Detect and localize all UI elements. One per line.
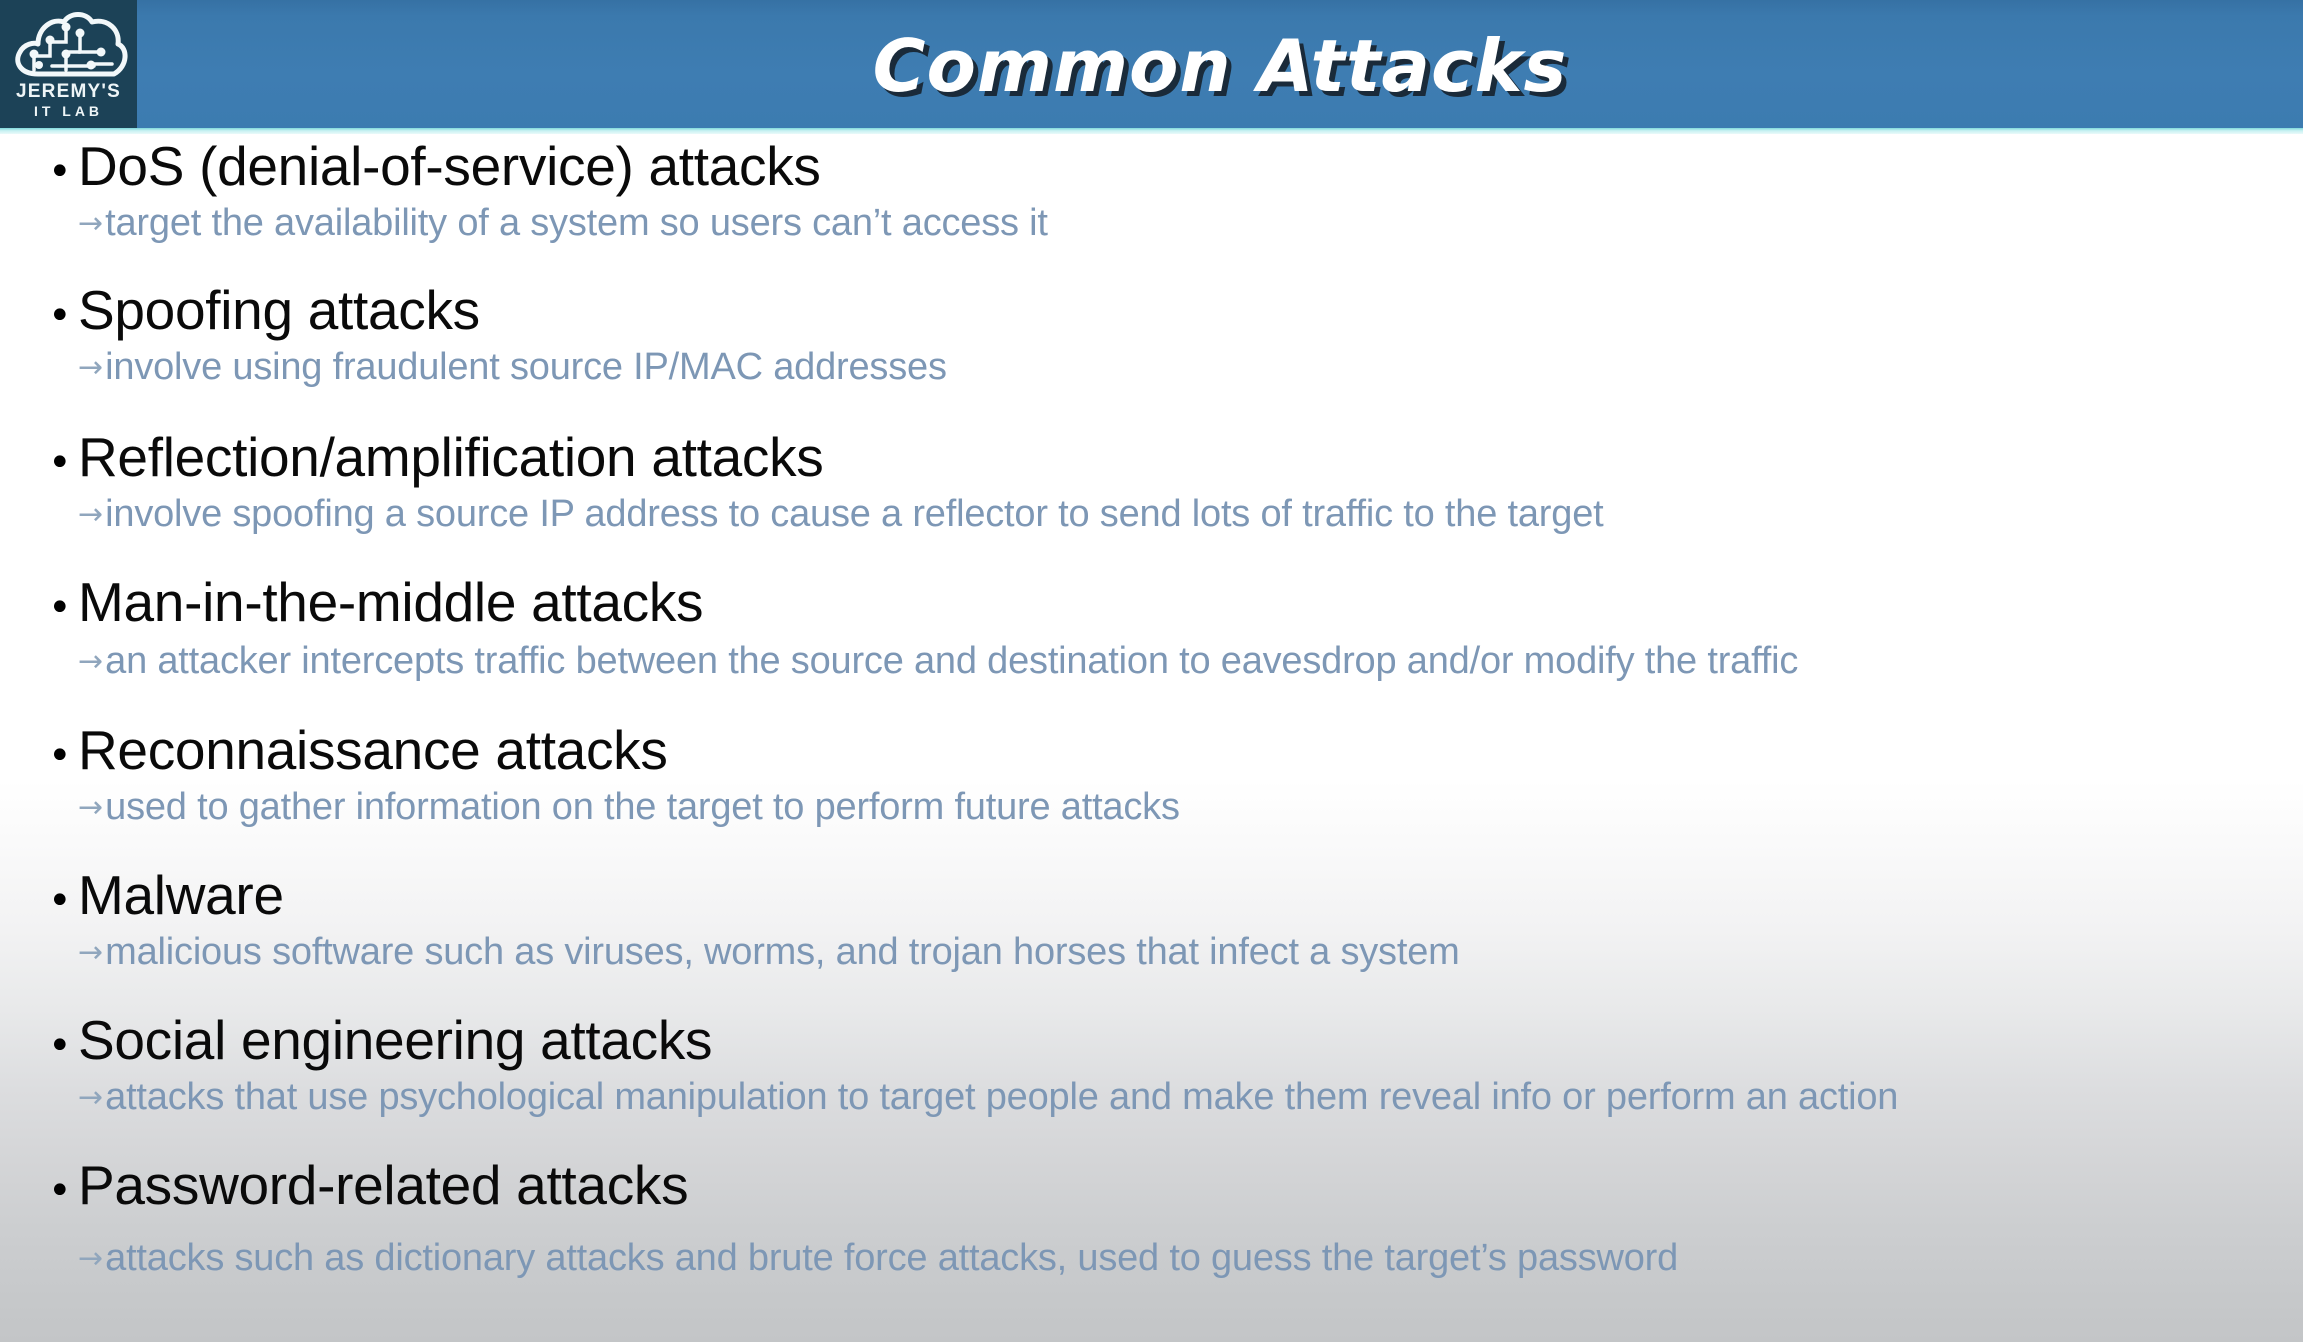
bullet-icon: • — [48, 1175, 78, 1207]
list-item: • DoS (denial-of-service) attacks → targ… — [0, 137, 1048, 244]
list-item: • Man-in-the-middle attacks → an attacke… — [0, 573, 1798, 682]
attack-detail: malicious software such as viruses, worm… — [105, 932, 1459, 972]
attack-detail: used to gather information on the target… — [105, 787, 1180, 827]
bullet-row: • Malware — [0, 866, 1460, 924]
attack-detail: involve using fraudulent source IP/MAC a… — [105, 347, 947, 387]
attack-detail: involve spoofing a source IP address to … — [105, 494, 1603, 534]
bullet-row: • Spoofing attacks — [0, 281, 947, 339]
attack-title: Spoofing attacks — [78, 281, 480, 339]
bullet-row: • Man-in-the-middle attacks — [0, 573, 1798, 631]
detail-row: → attacks that use psychological manipul… — [0, 1077, 1898, 1117]
attack-title: Password-related attacks — [78, 1156, 688, 1214]
attack-title: Reflection/amplification attacks — [78, 428, 823, 486]
bullet-row: • Reflection/amplification attacks — [0, 428, 1604, 486]
arrow-right-icon: → — [78, 1244, 105, 1274]
logo-text-secondary: IT LAB — [8, 104, 130, 118]
cloud-circuit-icon — [8, 8, 130, 89]
detail-row: → used to gather information on the targ… — [0, 787, 1180, 827]
attack-title: Man-in-the-middle attacks — [78, 573, 703, 631]
bullet-row: • Reconnaissance attacks — [0, 721, 1180, 779]
list-item: • Reflection/amplification attacks → inv… — [0, 428, 1604, 535]
attack-detail: attacks such as dictionary attacks and b… — [105, 1238, 1678, 1278]
attack-detail: an attacker intercepts traffic between t… — [105, 641, 1798, 681]
list-item: • Spoofing attacks → involve using fraud… — [0, 281, 947, 388]
list-item: • Reconnaissance attacks → used to gathe… — [0, 721, 1180, 828]
brand-logo: JEREMY'S IT LAB — [0, 0, 137, 131]
arrow-right-icon: → — [78, 353, 105, 383]
bullet-icon: • — [48, 156, 78, 188]
detail-row: → attacks such as dictionary attacks and… — [0, 1238, 1678, 1278]
slide: JEREMY'S IT LAB Common Attacks • DoS (de… — [0, 0, 2303, 1342]
bullet-row: • Password-related attacks — [0, 1156, 1678, 1214]
attack-title: Reconnaissance attacks — [78, 721, 668, 779]
bullet-row: • Social engineering attacks — [0, 1011, 1898, 1069]
bullet-icon: • — [48, 300, 78, 332]
bullet-icon: • — [48, 592, 78, 624]
list-item: • Social engineering attacks → attacks t… — [0, 1011, 1898, 1118]
attack-title: Social engineering attacks — [78, 1011, 712, 1069]
slide-body: • DoS (denial-of-service) attacks → targ… — [0, 133, 2303, 1342]
detail-row: → malicious software such as viruses, wo… — [0, 932, 1460, 972]
bullet-icon: • — [48, 1030, 78, 1062]
list-item: • Malware → malicious software such as v… — [0, 866, 1460, 973]
detail-row: → involve spoofing a source IP address t… — [0, 494, 1604, 534]
arrow-right-icon: → — [78, 647, 105, 677]
bullet-icon: • — [48, 447, 78, 479]
attack-title: DoS (denial-of-service) attacks — [78, 137, 821, 195]
attack-detail: attacks that use psychological manipulat… — [105, 1077, 1898, 1117]
detail-row: → involve using fraudulent source IP/MAC… — [0, 347, 947, 387]
bullet-row: • DoS (denial-of-service) attacks — [0, 137, 1048, 195]
bullet-icon: • — [48, 740, 78, 772]
slide-title: Common Attacks — [137, 0, 2303, 131]
list-item: • Password-related attacks → attacks suc… — [0, 1156, 1678, 1279]
arrow-right-icon: → — [78, 938, 105, 968]
bullet-icon: • — [48, 885, 78, 917]
detail-row: → target the availability of a system so… — [0, 203, 1048, 243]
slide-header: JEREMY'S IT LAB Common Attacks — [0, 0, 2303, 133]
attack-detail: target the availability of a system so u… — [105, 203, 1048, 243]
attack-title: Malware — [78, 866, 284, 924]
arrow-right-icon: → — [78, 209, 105, 239]
arrow-right-icon: → — [78, 793, 105, 823]
arrow-right-icon: → — [78, 500, 105, 530]
logo-text-primary: JEREMY'S — [8, 82, 130, 101]
arrow-right-icon: → — [78, 1083, 105, 1113]
detail-row: → an attacker intercepts traffic between… — [0, 641, 1798, 681]
